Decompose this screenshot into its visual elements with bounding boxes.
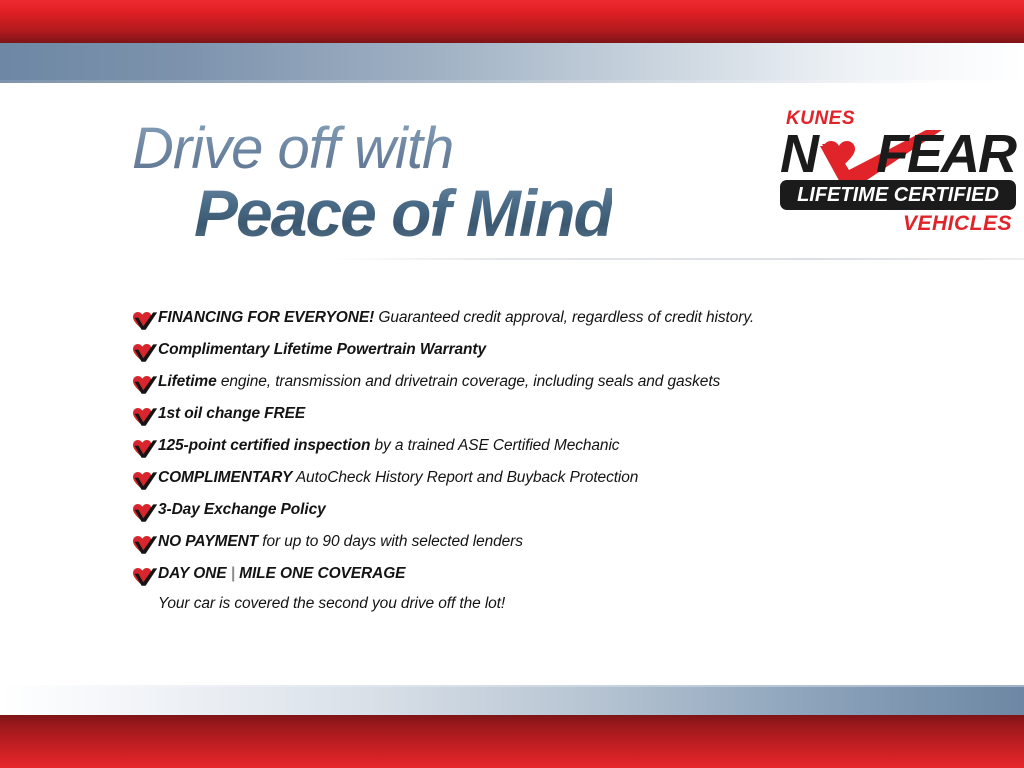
list-item: Complimentary Lifetime Powertrain Warran… <box>132 340 962 372</box>
list-item: NO PAYMENT for up to 90 days with select… <box>132 532 962 564</box>
logo-wordmark: N FEAR <box>778 126 1018 182</box>
heart-check-icon <box>132 373 158 395</box>
bottom-gray-band <box>0 685 1024 715</box>
heart-check-icon <box>132 533 158 555</box>
list-item-text: FINANCING FOR EVERYONE! Guaranteed credi… <box>158 308 962 328</box>
list-item-bold: 1st oil change FREE <box>158 405 305 422</box>
headline: Drive off with Peace of Mind <box>132 120 612 246</box>
list-item: 3-Day Exchange Policy <box>132 500 962 532</box>
heart-check-icon <box>132 405 158 427</box>
headline-line-2: Peace of Mind <box>194 180 612 246</box>
list-item: 1st oil change FREE <box>132 404 962 436</box>
list-item-bold: Lifetime <box>158 373 217 390</box>
list-item: COMPLIMENTARY AutoCheck History Report a… <box>132 468 962 500</box>
list-item-bold: DAY ONE | MILE ONE COVERAGE <box>158 565 405 582</box>
logo-vehicles-text: VEHICLES <box>903 212 1012 236</box>
logo-bar-text: LIFETIME CERTIFIED <box>797 184 999 207</box>
top-gray-band <box>0 43 1024 83</box>
logo-letter-n: N <box>780 126 817 182</box>
benefits-list: FINANCING FOR EVERYONE! Guaranteed credi… <box>132 308 962 613</box>
heart-check-icon <box>132 565 158 587</box>
list-item-bold: Complimentary Lifetime Powertrain Warran… <box>158 341 486 358</box>
list-item-rest: AutoCheck History Report and Buyback Pro… <box>292 469 638 486</box>
headline-line-1: Drive off with <box>132 120 612 178</box>
list-item-bold: COMPLIMENTARY <box>158 469 292 486</box>
heart-check-icon <box>132 437 158 459</box>
list-item-text: Complimentary Lifetime Powertrain Warran… <box>158 340 962 360</box>
list-item-text: Lifetime engine, transmission and drivet… <box>158 372 962 392</box>
list-item: 125-point certified inspection by a trai… <box>132 436 962 468</box>
heart-check-icon <box>132 469 158 491</box>
list-item-bold: FINANCING FOR EVERYONE! <box>158 309 374 326</box>
list-item-rest: Guaranteed credit approval, regardless o… <box>374 309 754 326</box>
list-item-text: 1st oil change FREE <box>158 404 962 424</box>
list-item: Lifetime engine, transmission and drivet… <box>132 372 962 404</box>
heart-check-icon <box>132 501 158 523</box>
list-item-text: COMPLIMENTARY AutoCheck History Report a… <box>158 468 962 488</box>
list-item-text: 3-Day Exchange Policy <box>158 500 962 520</box>
list-item-bold: NO PAYMENT <box>158 533 258 550</box>
list-item-bold: 125-point certified inspection <box>158 437 370 454</box>
heart-icon <box>822 140 856 170</box>
heart-check-icon <box>132 309 158 331</box>
heart-check-icon <box>132 341 158 363</box>
list-item-rest: engine, transmission and drivetrain cove… <box>217 373 721 390</box>
bottom-red-band <box>0 715 1024 768</box>
top-red-band <box>0 0 1024 43</box>
logo-lifetime-certified-bar: LIFETIME CERTIFIED <box>780 180 1016 210</box>
list-item: DAY ONE | MILE ONE COVERAGE <box>132 564 962 614</box>
list-item: FINANCING FOR EVERYONE! Guaranteed credi… <box>132 308 962 340</box>
list-item-text: DAY ONE | MILE ONE COVERAGE <box>158 564 962 584</box>
header-divider <box>330 258 1024 260</box>
pipe-separator: | <box>231 565 235 582</box>
logo-word-fear: FEAR <box>876 126 1015 182</box>
flyer-page: Drive off with Peace of Mind KUNES N FEA… <box>0 0 1024 768</box>
list-item-bold: 3-Day Exchange Policy <box>158 501 326 518</box>
kunes-no-fear-logo: KUNES N FEAR LIFETIME CERTIFIED VEHICLES <box>778 108 1018 240</box>
list-item-text: NO PAYMENT for up to 90 days with select… <box>158 532 962 552</box>
list-item-text: 125-point certified inspection by a trai… <box>158 436 962 456</box>
list-item-rest: by a trained ASE Certified Mechanic <box>370 437 619 454</box>
list-item-rest: for up to 90 days with selected lenders <box>258 533 523 550</box>
